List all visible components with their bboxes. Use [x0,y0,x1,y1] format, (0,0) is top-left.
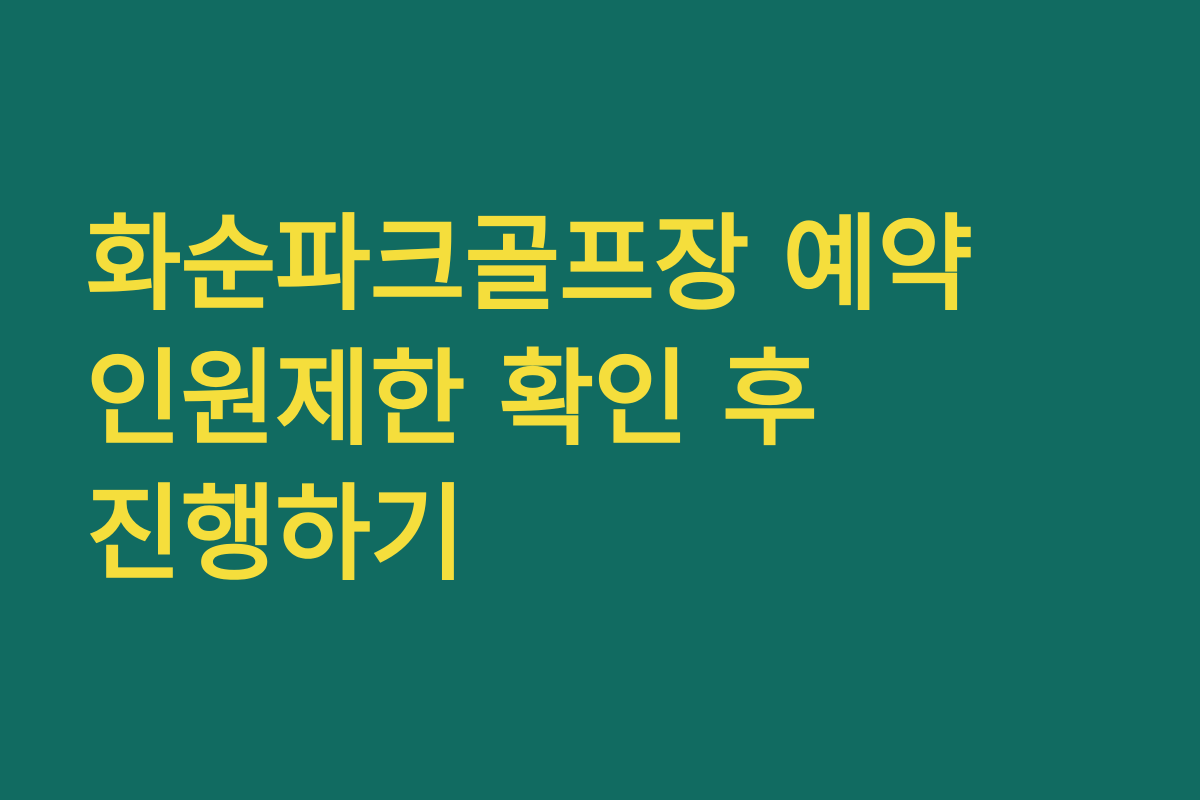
headline-block: 화순파크골프장 예약 인원제한 확인 후 진행하기 [86,198,1114,603]
banner-headline: 화순파크골프장 예약 인원제한 확인 후 진행하기 [86,198,1114,603]
banner-canvas: 화순파크골프장 예약 인원제한 확인 후 진행하기 [0,0,1200,800]
